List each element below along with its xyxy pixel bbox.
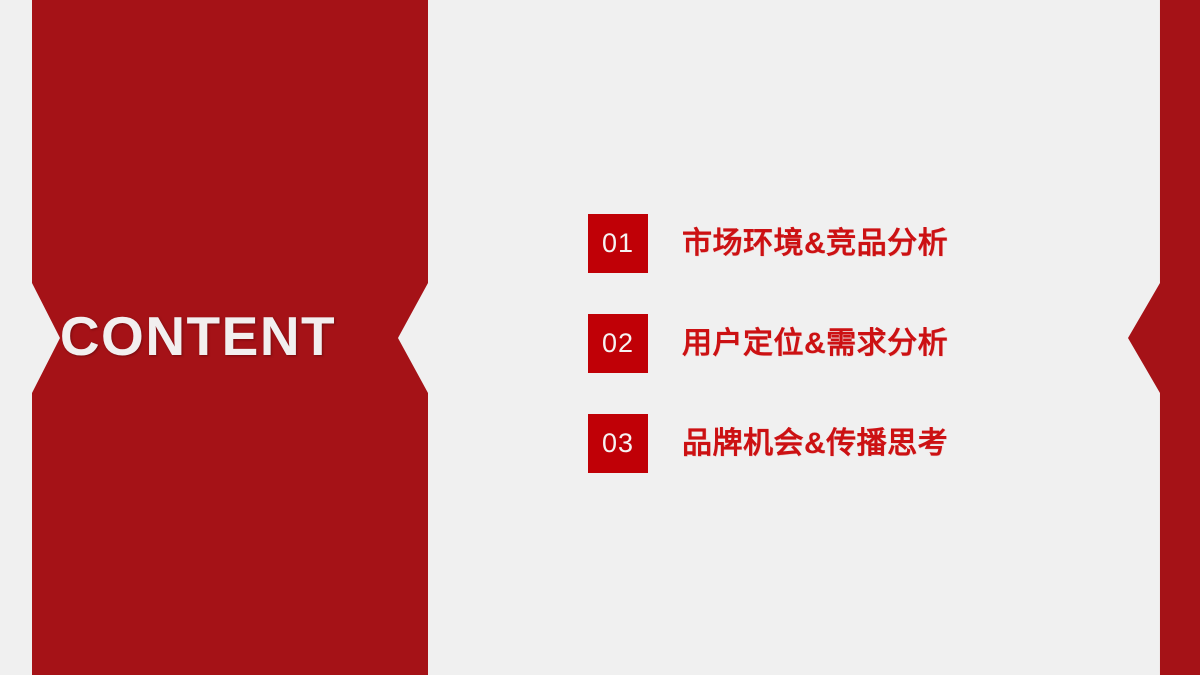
agenda-item-01[interactable]: 01 市场环境&竞品分析 (588, 214, 1128, 273)
agenda-item-title: 市场环境&竞品分析 (682, 229, 948, 259)
agenda-item-02[interactable]: 02 用户定位&需求分析 (588, 314, 1128, 373)
agenda-number-label: 01 (602, 230, 634, 257)
agenda-number-badge: 02 (588, 314, 648, 373)
slide-canvas: CONTENT 01 市场环境&竞品分析 02 用户定位&需求分析 03 品牌机… (0, 0, 1200, 675)
agenda-item-title: 用户定位&需求分析 (682, 329, 948, 359)
agenda-list: 01 市场环境&竞品分析 02 用户定位&需求分析 03 品牌机会&传播思考 (588, 214, 1128, 473)
agenda-number-badge: 03 (588, 414, 648, 473)
agenda-number-label: 03 (602, 430, 634, 457)
agenda-number-label: 02 (602, 330, 634, 357)
page-title: CONTENT (60, 309, 336, 364)
agenda-item-title: 品牌机会&传播思考 (682, 429, 948, 459)
agenda-item-03[interactable]: 03 品牌机会&传播思考 (588, 414, 1128, 473)
right-edge-chevron-shape (1128, 0, 1200, 675)
agenda-number-badge: 01 (588, 214, 648, 273)
content-banner-title-area: CONTENT (0, 0, 396, 675)
